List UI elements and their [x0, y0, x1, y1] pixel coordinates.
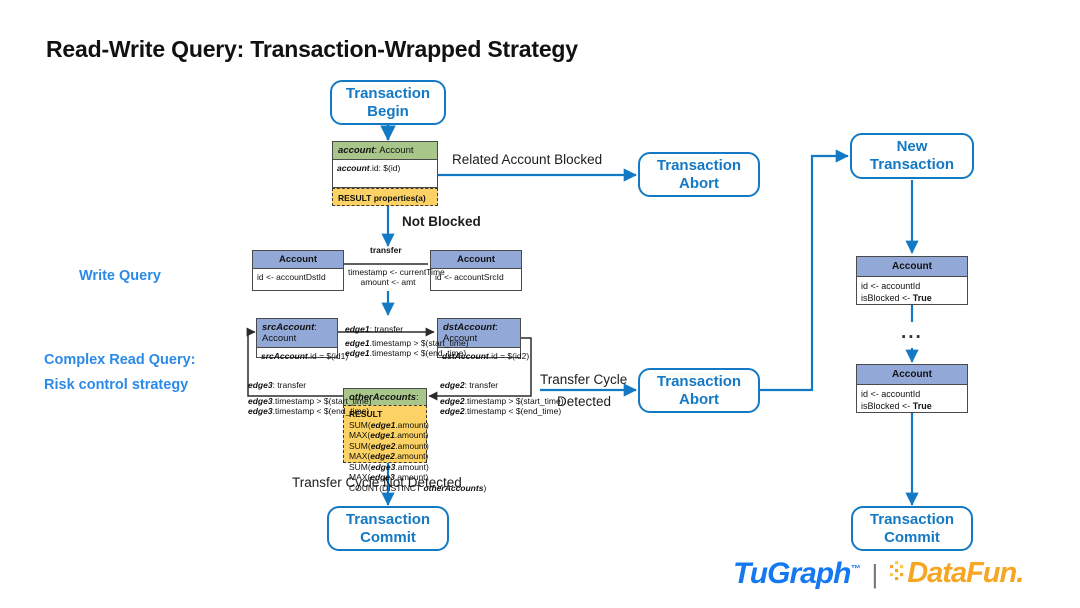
read-edge2-cond2-rest: .timestamp < $(end_time)	[465, 406, 562, 416]
transaction-abort-top-line2: Abort	[657, 175, 741, 193]
read-result-row: SUM(edge1.amount)	[349, 420, 421, 431]
read-src-account-entity: srcAccount: Account srcAccount.id = $(id…	[256, 318, 338, 358]
read-result-row-ref: edge2	[370, 451, 395, 461]
account-check-result-panel: RESULT properties(a)	[332, 188, 438, 206]
write-dst-account-prop: id <- accountDstId	[257, 272, 339, 283]
blocked-account-second-prop1: id <- accountId	[861, 388, 963, 400]
read-edge2-name: edge2: transfer	[440, 380, 498, 390]
blocked-account-first-header: Account	[857, 257, 967, 277]
write-src-account-prop: id <- accountSrcId	[435, 272, 517, 283]
transaction-begin-line1: Transaction	[346, 85, 430, 103]
read-edge3-cond2: edge3.timestamp < $(end_time)	[248, 406, 369, 417]
read-result-row: MAX(edge2.amount)	[349, 451, 421, 462]
edge-label-not-blocked: Not Blocked	[402, 214, 481, 229]
account-check-header-prefix: account	[338, 145, 374, 156]
new-transaction-box[interactable]: New Transaction	[850, 133, 974, 179]
account-check-header-type: : Account	[374, 145, 413, 156]
read-result-row-fn: MAX(	[349, 451, 370, 461]
write-dst-account-body: id <- accountDstId	[253, 269, 343, 286]
read-edge1-name-rest: : transfer	[370, 324, 404, 334]
write-edge-name: transfer	[370, 245, 402, 255]
blocked-account-second-body: id <- accountId isBlocked <- True	[857, 385, 967, 415]
edge-label-transfer-cycle-not-detected: Transfer Cycle Not Detected	[292, 475, 462, 490]
transaction-commit-right-line1: Transaction	[870, 511, 954, 529]
blocked-account-second-header: Account	[857, 365, 967, 385]
read-result-row: SUM(edge3.amount)	[349, 462, 421, 473]
read-src-account-body: srcAccount.id = $(id1)	[257, 348, 337, 365]
transaction-abort-mid-box[interactable]: Transaction Abort	[638, 368, 760, 413]
read-src-account-prop-prefix: srcAccount	[261, 351, 308, 361]
read-edge1-cond1-rest: .timestamp > $(start_time)	[370, 338, 469, 348]
read-result-row-tail: .amount)	[395, 441, 429, 451]
read-src-account-prop-rest: .id = $(id1)	[308, 351, 348, 361]
read-edge2-cond1-prefix: edge2	[440, 396, 465, 406]
blocked-account-first-prop1: id <- accountId	[861, 280, 963, 292]
blocked-account-second-prop2-label: isBlocked <-	[861, 401, 913, 411]
account-check-header: account: Account	[333, 142, 437, 160]
transaction-abort-mid-line1: Transaction	[657, 373, 741, 391]
read-dst-account-prop-rest: .id = $(id2)	[489, 351, 529, 361]
blocked-account-first-body: id <- accountId isBlocked <- True	[857, 277, 967, 307]
read-edge1-cond2: edge1.timestamp < $(end_time)	[345, 348, 466, 359]
transaction-commit-right-line2: Commit	[870, 529, 954, 547]
new-transaction-line1: New	[870, 138, 954, 156]
account-check-prop-prefix: account	[337, 163, 370, 173]
read-edge3-cond1-prefix: edge3	[248, 396, 273, 406]
read-result-row-ref: edge3	[371, 462, 396, 472]
read-result-row-ref: edge1	[370, 430, 395, 440]
transaction-abort-top-line1: Transaction	[657, 157, 741, 175]
write-dst-account-header: Account	[253, 251, 343, 269]
transaction-begin-box[interactable]: Transaction Begin	[330, 80, 446, 125]
read-src-account-header: srcAccount: Account	[257, 319, 337, 348]
read-result-row: MAX(edge1.amount)	[349, 430, 421, 441]
read-dst-account-header-prefix: dstAccount	[443, 322, 495, 333]
read-result-row-fn: SUM(	[349, 462, 371, 472]
read-edge3-cond2-rest: .timestamp < $(end_time)	[273, 406, 370, 416]
write-edge-prop-amount: amount <- amt	[348, 277, 428, 288]
new-transaction-line2: Transaction	[870, 156, 954, 174]
blocked-account-first-prop2-value: True	[913, 293, 932, 303]
read-result-row-tail: )	[483, 483, 486, 493]
transaction-abort-mid-line2: Abort	[657, 391, 741, 409]
read-edge3-name: edge3: transfer	[248, 380, 306, 390]
read-result-row-fn: MAX(	[349, 430, 370, 440]
read-result-row-fn: SUM(	[349, 420, 371, 430]
account-check-prop-rest: .id: $(id)	[370, 163, 401, 173]
blocked-account-first-entity: Account id <- accountId isBlocked <- Tru…	[856, 256, 968, 305]
read-edge1-cond1-prefix: edge1	[345, 338, 370, 348]
read-edge3-name-prefix: edge3	[248, 380, 273, 390]
read-edge2-cond2-prefix: edge2	[440, 406, 465, 416]
account-check-body: account.id: $(id)	[333, 160, 437, 177]
diagram-canvas: Read-Write Query: Transaction-Wrapped St…	[0, 0, 1080, 608]
transaction-commit-left-line2: Commit	[346, 529, 430, 547]
read-edge2-cond1-rest: .timestamp > $(start_time)	[465, 396, 564, 406]
blocked-account-second-prop2-value: True	[913, 401, 932, 411]
read-result-row-tail: .amount)	[395, 451, 429, 461]
read-result-row-fn: SUM(	[349, 441, 371, 451]
read-result-row-ref: edge1	[371, 420, 396, 430]
read-edge2-cond2: edge2.timestamp < $(end_time)	[440, 406, 561, 417]
transaction-commit-left-line1: Transaction	[346, 511, 430, 529]
read-edge1-name-prefix: edge1	[345, 324, 370, 334]
read-edge2-name-rest: : transfer	[465, 380, 499, 390]
read-edge3-cond1-rest: .timestamp > $(start_time)	[273, 396, 372, 406]
transaction-begin-line2: Begin	[346, 103, 430, 121]
read-edge3-name-rest: : transfer	[273, 380, 307, 390]
read-result-row-tail: .amount)	[395, 420, 429, 430]
edge-label-transfer-cycle: Transfer Cycle	[540, 372, 627, 387]
account-check-entity: account: Account account.id: $(id)	[332, 141, 438, 188]
read-result-row-ref: edge2	[371, 441, 396, 451]
write-dst-account-entity: Account id <- accountDstId	[252, 250, 344, 291]
read-result-row-tail: .amount)	[395, 462, 429, 472]
transaction-abort-top-box[interactable]: Transaction Abort	[638, 152, 760, 197]
read-edge1-cond2-prefix: edge1	[345, 348, 370, 358]
read-edge1-name: edge1: transfer	[345, 324, 403, 334]
read-result-row: SUM(edge2.amount)	[349, 441, 421, 452]
transaction-commit-right-box[interactable]: Transaction Commit	[851, 506, 973, 551]
transaction-commit-left-box[interactable]: Transaction Commit	[327, 506, 449, 551]
blocked-account-first-prop2-label: isBlocked <-	[861, 293, 913, 303]
read-edge1-cond2-rest: .timestamp < $(end_time)	[370, 348, 467, 358]
read-edge3-cond2-prefix: edge3	[248, 406, 273, 416]
read-result-row-tail: .amount)	[395, 430, 429, 440]
read-src-account-header-prefix: srcAccount	[262, 322, 314, 333]
edge-label-transfer-cycle-detected: Detected	[557, 394, 611, 409]
account-check-result-text: RESULT properties(a)	[338, 193, 432, 204]
blocked-account-second-entity: Account id <- accountId isBlocked <- Tru…	[856, 364, 968, 413]
read-edge2-name-prefix: edge2	[440, 380, 465, 390]
edge-label-related-account-blocked: Related Account Blocked	[452, 152, 602, 167]
